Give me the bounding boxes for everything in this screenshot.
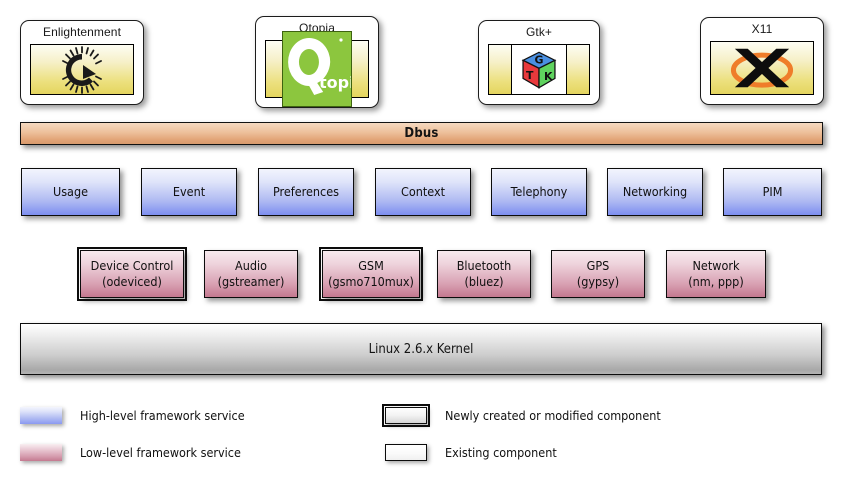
app-title-x11: X11 (701, 22, 823, 36)
service-gps[interactable]: GPS (gypsy) (551, 250, 645, 298)
service-sublabel: (gstreamer) (218, 274, 285, 290)
legend-swatch-existing (385, 444, 427, 461)
service-networking[interactable]: Networking (607, 168, 703, 216)
app-logo-frame-gtk: G T K (488, 44, 590, 95)
service-sublabel: (gsmo710mux) (328, 274, 414, 290)
kernel-bar[interactable]: Linux 2.6.x Kernel (20, 323, 822, 375)
service-usage[interactable]: Usage (21, 168, 120, 216)
enlightenment-logo (31, 45, 133, 94)
legend-swatch-modified (385, 407, 427, 424)
app-title-gtk: Gtk+ (479, 25, 599, 39)
svg-text:G: G (535, 53, 544, 66)
service-label-wrap: GSM (gsmo710mux) (328, 258, 414, 289)
service-label-wrap: GPS (gypsy) (577, 258, 619, 289)
service-sublabel: (bluez) (457, 274, 512, 290)
dbus-bar[interactable]: Dbus (20, 122, 823, 145)
service-sublabel: (gypsy) (577, 274, 619, 290)
service-gsm[interactable]: GSM (gsmo710mux) (322, 250, 420, 298)
service-label: Audio (235, 258, 267, 273)
svg-text:K: K (544, 70, 553, 83)
service-network[interactable]: Network (nm, ppp) (666, 250, 766, 298)
kernel-label: Linux 2.6.x Kernel (369, 342, 474, 357)
legend-item-low-level: Low-level framework service (20, 444, 241, 461)
service-label-wrap: Device Control (odeviced) (91, 258, 174, 289)
legend-label: Newly created or modified component (445, 408, 661, 423)
service-label: GPS (587, 258, 610, 273)
service-preferences[interactable]: Preferences (258, 168, 354, 216)
service-context[interactable]: Context (375, 168, 471, 216)
svg-text:T: T (526, 69, 534, 82)
service-telephony[interactable]: Telephony (491, 168, 587, 216)
service-sublabel: (nm, ppp) (688, 274, 743, 290)
service-label: Context (401, 184, 445, 200)
service-label: Preferences (273, 184, 339, 200)
legend-item-modified: Newly created or modified component (385, 407, 661, 424)
legend-label: High-level framework service (80, 408, 245, 423)
service-audio[interactable]: Audio (gstreamer) (204, 250, 298, 298)
service-sublabel: (odeviced) (91, 274, 174, 290)
service-label: Usage (53, 184, 88, 200)
service-label: Event (173, 184, 205, 200)
app-logo-frame-x11 (710, 41, 814, 95)
app-title-enlightenment: Enlightenment (21, 25, 143, 39)
service-label: Telephony (511, 184, 568, 200)
qtopia-logo: topia (266, 41, 368, 97)
app-logo-frame-qtopia: topia (265, 40, 369, 98)
service-event[interactable]: Event (141, 168, 237, 216)
service-label: Networking (623, 184, 687, 200)
app-box-x11[interactable]: X11 (700, 17, 824, 105)
service-label: Device Control (91, 258, 174, 273)
app-logo-frame-enlightenment (30, 44, 134, 95)
legend-label: Low-level framework service (80, 445, 241, 460)
app-box-qtopia[interactable]: Qtopia topia (255, 16, 379, 108)
service-label: GSM (358, 258, 384, 273)
service-label: Network (693, 258, 740, 273)
service-bluetooth[interactable]: Bluetooth (bluez) (437, 250, 531, 298)
app-box-enlightenment[interactable]: Enlightenment (20, 20, 144, 105)
service-device-control[interactable]: Device Control (odeviced) (80, 250, 184, 298)
legend-swatch-low-level (20, 444, 62, 461)
dbus-label: Dbus (404, 126, 438, 141)
service-label-wrap: Bluetooth (bluez) (457, 258, 512, 289)
legend-item-existing: Existing component (385, 444, 557, 461)
gtk-logo: G T K (489, 45, 589, 94)
service-label: Bluetooth (457, 258, 512, 273)
svg-text:topia: topia (319, 73, 351, 92)
legend-label: Existing component (445, 445, 557, 460)
service-label-wrap: Network (nm, ppp) (688, 258, 743, 289)
x11-logo (711, 42, 813, 94)
service-pim[interactable]: PIM (723, 168, 822, 216)
legend-swatch-high-level (20, 407, 62, 424)
service-label: PIM (763, 184, 783, 200)
service-label-wrap: Audio (gstreamer) (218, 258, 285, 289)
app-box-gtk[interactable]: Gtk+ G T K (478, 20, 600, 105)
legend-item-high-level: High-level framework service (20, 407, 245, 424)
